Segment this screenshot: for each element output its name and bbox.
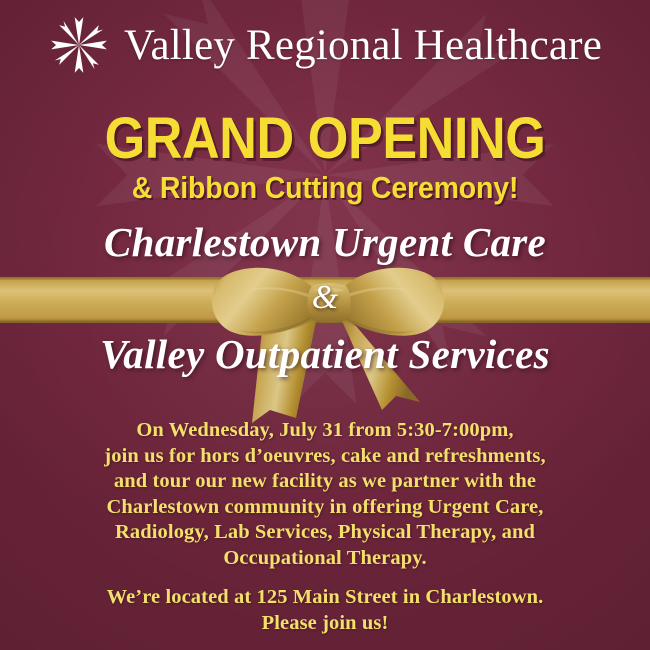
facility-conjunction: & (0, 281, 650, 315)
event-details: On Wednesday, July 31 from 5:30-7:00pm, … (0, 418, 650, 571)
grand-opening-headline: GRAND OPENING (33, 110, 618, 168)
ribbon-cutting-subheadline: & Ribbon Cutting Ceremony! (26, 172, 624, 203)
facility-name-urgent-care: Charlestown Urgent Care (0, 222, 650, 263)
location-invitation: We’re located at 125 Main Street in Char… (0, 585, 650, 636)
event-details-line: Occupational Therapy. (0, 546, 650, 572)
event-details-line: join us for hors d’oeuvres, cake and ref… (0, 444, 650, 470)
facility-name-outpatient-services: Valley Outpatient Services (0, 334, 650, 375)
grand-opening-poster: Valley Regional Healthcare GRAND OPENING… (0, 0, 650, 650)
invitation-line: Please join us! (0, 611, 650, 637)
event-details-line: Radiology, Lab Services, Physical Therap… (0, 520, 650, 546)
event-details-line: On Wednesday, July 31 from 5:30-7:00pm, (0, 418, 650, 444)
starburst-pinwheel-logo-icon (48, 14, 110, 76)
organization-name: Valley Regional Healthcare (124, 24, 602, 67)
location-line: We’re located at 125 Main Street in Char… (0, 585, 650, 611)
event-details-line: and tour our new facility as we partner … (0, 469, 650, 495)
event-details-line: Charlestown community in offering Urgent… (0, 495, 650, 521)
brand-header: Valley Regional Healthcare (0, 14, 650, 76)
